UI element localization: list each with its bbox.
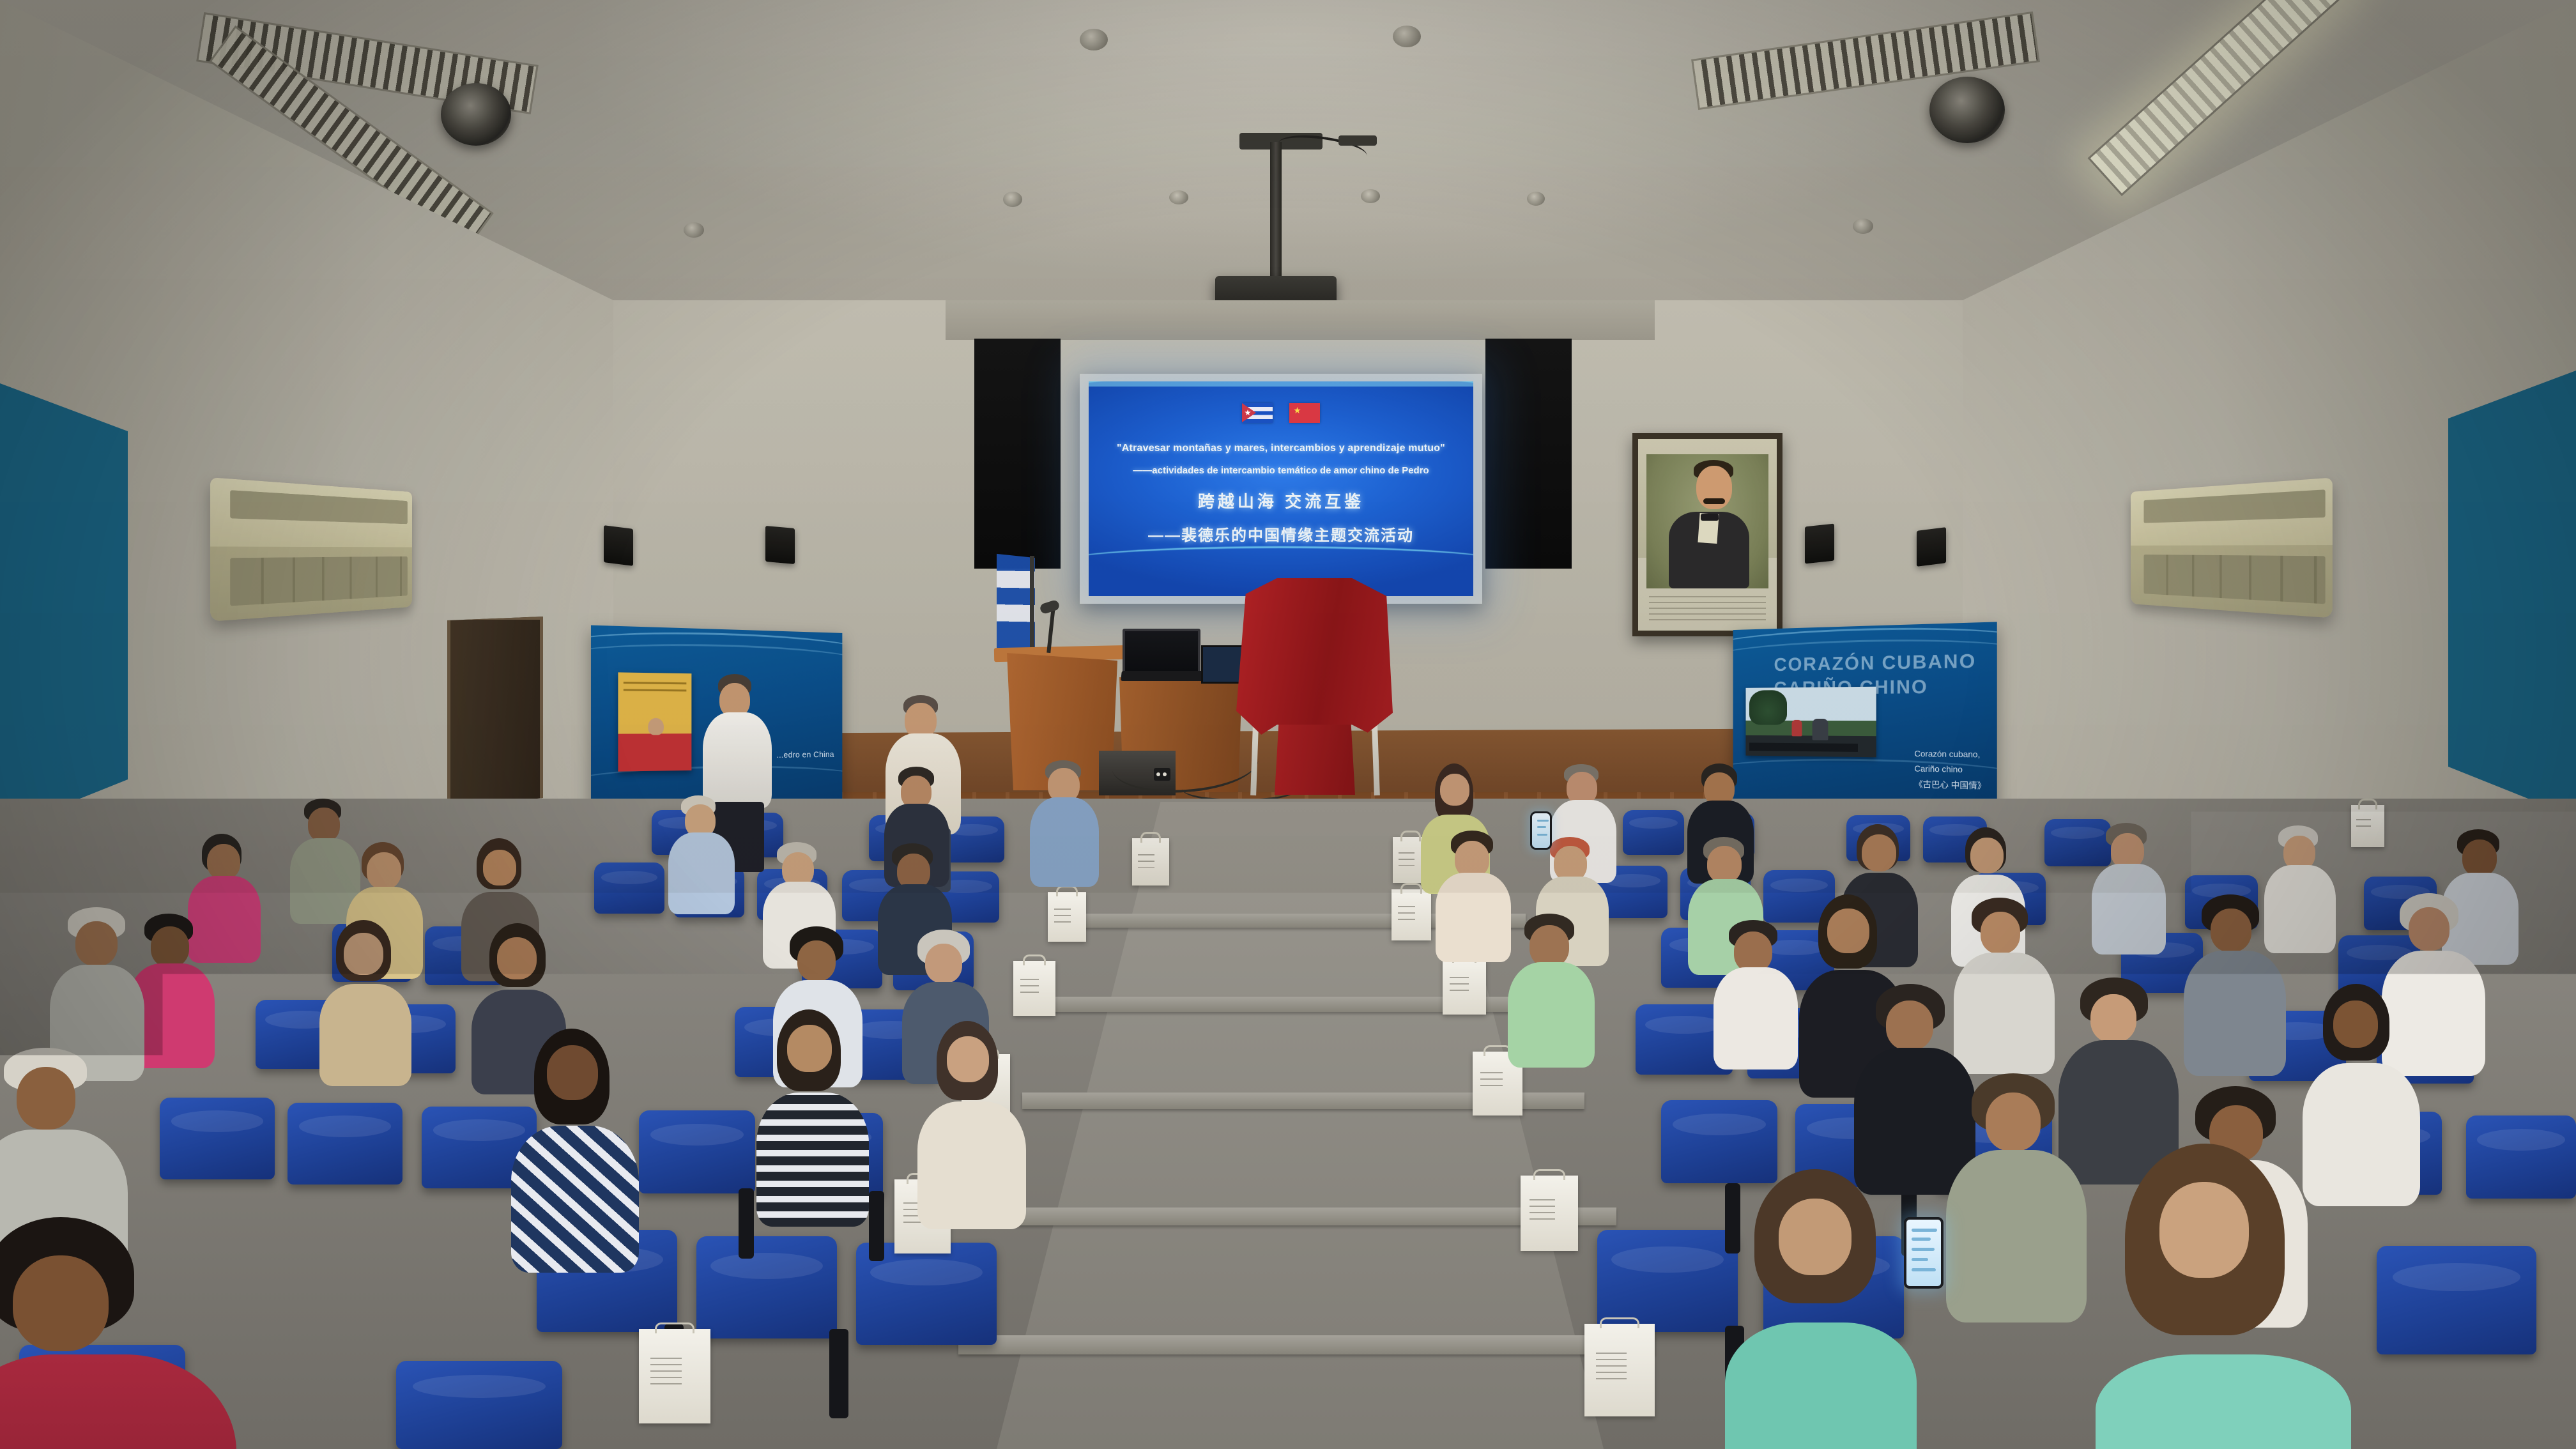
- banner-sub-line-1: Corazón cubano,: [1914, 746, 1986, 762]
- person-head: [1970, 838, 2004, 873]
- cuba-flag-star: [1245, 410, 1251, 416]
- screen-text-block: "Atravesar montañas y mares, intercambio…: [1089, 443, 1473, 545]
- stage-valance: [946, 300, 1655, 340]
- smoke-detector: [1361, 189, 1380, 203]
- person-head: [1827, 908, 1869, 953]
- laptop-keyboard-base: [1121, 671, 1205, 681]
- ac-louvers: [230, 556, 407, 606]
- person-head: [1981, 912, 2020, 954]
- tote-print: [1399, 850, 1414, 865]
- projector-pole: [1270, 142, 1282, 281]
- banner-right-subtitle: Corazón cubano, Cariño chino 《古巴心 中国情》: [1914, 746, 1986, 793]
- auditorium-photo-scene: "Atravesar montañas y mares, intercambio…: [0, 0, 2576, 1449]
- stage-drape-right: [1485, 339, 1572, 569]
- portrait-artwork: [1638, 439, 1777, 631]
- event-gift-tote-bag: [1391, 889, 1431, 940]
- person-head: [151, 926, 189, 967]
- accent-wall-panel-right: [2448, 371, 2576, 818]
- smoke-detector: [1527, 192, 1545, 206]
- screen-flag-pair: [1089, 403, 1473, 423]
- person-torso: [2092, 864, 2166, 954]
- wall-mounted-speaker: [604, 525, 633, 566]
- person-head: [1734, 931, 1772, 972]
- person-head: [344, 933, 383, 975]
- person-head: [1529, 925, 1569, 967]
- person-head: [1862, 834, 1896, 871]
- event-gift-tote-bag: [1521, 1176, 1578, 1251]
- person-torso: [1436, 873, 1511, 962]
- screen-subtitle-chinese: ——裴德乐的中国情缘主题交流活动: [1089, 523, 1473, 545]
- person-head: [925, 944, 962, 983]
- side-door[interactable]: [447, 617, 543, 808]
- book-cover-figure: [648, 718, 664, 735]
- projector-cable-anchor: [1338, 135, 1377, 146]
- blue-auditorium-chair[interactable]: [639, 1110, 755, 1193]
- person-torso: [2096, 1354, 2351, 1449]
- person-torso: [756, 1092, 869, 1227]
- wall-mounted-speaker: [765, 526, 795, 564]
- smoke-detector: [1003, 192, 1022, 207]
- person-torso: [2264, 865, 2336, 953]
- tote-print: [1480, 1069, 1502, 1091]
- phone-message-line: [1912, 1238, 1931, 1241]
- roll-up-banner-right: CORAZÓN CUBANO CARIÑO CHINO Corazón cuba…: [1733, 622, 1997, 812]
- blue-auditorium-chair[interactable]: [160, 1098, 275, 1179]
- tote-print: [1138, 852, 1154, 868]
- screen-title-spanish-quote: "Atravesar montañas y mares, intercambio…: [1089, 443, 1473, 454]
- portrait-caption-text: [1649, 594, 1765, 625]
- person-head: [367, 852, 401, 889]
- smoke-detector: [1393, 26, 1421, 47]
- person-head: [2090, 994, 2136, 1043]
- book-title-lines: [624, 679, 687, 694]
- blue-auditorium-chair[interactable]: [1661, 1100, 1777, 1183]
- person-torso: [1946, 1150, 2087, 1322]
- cuba-flag-icon: [1242, 403, 1273, 423]
- person-head: [2333, 1000, 2378, 1048]
- person-torso: [511, 1126, 639, 1273]
- person-torso: [703, 712, 772, 808]
- person-head: [207, 844, 240, 880]
- phone-message-line: [1537, 834, 1547, 836]
- banner-photo-person-red: [1791, 720, 1802, 737]
- phone-message-line: [1912, 1229, 1937, 1232]
- chair-armrest: [829, 1329, 848, 1418]
- framed-portrait-jose-marti: [1632, 433, 1782, 636]
- event-gift-tote-bag: [2351, 805, 2384, 847]
- person-head: [947, 1036, 989, 1082]
- smoke-detector: [1169, 190, 1188, 204]
- blue-auditorium-chair[interactable]: [396, 1361, 562, 1449]
- person-head: [797, 940, 836, 981]
- person-head: [1779, 1199, 1851, 1275]
- person-torso: [1508, 962, 1595, 1068]
- event-gift-tote-bag: [1443, 958, 1486, 1015]
- wall-mounted-speaker: [1805, 524, 1834, 564]
- tote-print: [1398, 903, 1415, 921]
- person-torso: [319, 984, 411, 1086]
- person-torso: [2303, 1063, 2420, 1206]
- person-torso: [668, 832, 735, 914]
- blue-auditorium-chair[interactable]: [1597, 1230, 1738, 1332]
- event-gift-tote-bag: [1132, 838, 1169, 885]
- chair-armrest: [869, 1191, 884, 1261]
- ac-louvers: [2143, 555, 2325, 604]
- banner-headline-line-1: CORAZÓN CUBANO: [1774, 649, 1984, 678]
- tote-print: [1596, 1350, 1627, 1381]
- person-head: [787, 1025, 832, 1072]
- blue-auditorium-chair[interactable]: [2466, 1115, 2576, 1199]
- stage-drape-left: [974, 339, 1061, 569]
- projection-screen: "Atravesar montañas y mares, intercambio…: [1089, 381, 1473, 596]
- aisle-step: [958, 1335, 1655, 1354]
- china-flag-icon: [1289, 403, 1320, 423]
- blue-auditorium-chair[interactable]: [287, 1103, 402, 1184]
- smartphone-in-hand[interactable]: [1904, 1217, 1943, 1289]
- tote-print: [1450, 974, 1469, 993]
- person-torso: [2382, 951, 2485, 1076]
- person-torso: [2184, 951, 2286, 1076]
- person-torso: [188, 876, 261, 963]
- smartphone-in-hand[interactable]: [1530, 811, 1552, 850]
- event-gift-tote-bag: [639, 1329, 710, 1423]
- person-head: [2211, 908, 2251, 952]
- blue-auditorium-chair[interactable]: [2377, 1246, 2536, 1354]
- screen-title-chinese: 跨越山海 交流互鉴: [1089, 489, 1473, 512]
- blue-auditorium-chair[interactable]: [594, 862, 664, 914]
- banner-photo-bench: [1749, 742, 1858, 752]
- person-head: [2409, 907, 2449, 951]
- smoke-detector: [1853, 218, 1873, 234]
- person-head: [497, 937, 537, 979]
- person-head: [1886, 1000, 1933, 1050]
- person-torso: [917, 1101, 1026, 1229]
- portrait-mustache: [1703, 498, 1725, 504]
- chair-armrest: [1725, 1183, 1740, 1253]
- screen-wave-decoration: [1089, 546, 1473, 578]
- blue-auditorium-chair[interactable]: [696, 1236, 837, 1338]
- blue-auditorium-chair[interactable]: [1623, 810, 1684, 855]
- person-head: [547, 1045, 598, 1100]
- tote-print: [2356, 816, 2371, 831]
- event-gift-tote-bag: [1048, 892, 1086, 942]
- person-torso: [1854, 1048, 1975, 1195]
- screen-wave-decoration: [1089, 381, 1473, 406]
- ceiling-speaker-dome: [1929, 77, 2005, 143]
- ac-top-grille: [230, 490, 407, 524]
- banner-sub-line-3: 《古巴心 中国情》: [1914, 776, 1986, 793]
- wall-air-conditioner-right: [2131, 478, 2333, 618]
- chair-armrest: [739, 1188, 754, 1259]
- wall-mounted-speaker: [1917, 527, 1946, 567]
- portrait-bowtie: [1701, 514, 1719, 521]
- banner-photograph: [1746, 687, 1876, 758]
- banner-left-caption: ...edro en China: [776, 749, 834, 760]
- tote-print: [1054, 906, 1071, 923]
- person-head: [308, 808, 340, 842]
- cuban-flag-on-stand: [997, 554, 1035, 654]
- person-torso: [1954, 953, 2055, 1074]
- phone-message-line: [1537, 826, 1546, 828]
- blue-auditorium-chair[interactable]: [2044, 819, 2111, 866]
- banner-sub-line-2: Cariño chino: [1914, 761, 1986, 778]
- person-torso: [1725, 1322, 1917, 1449]
- ac-top-grille: [2143, 489, 2325, 523]
- event-gift-tote-bag: [1584, 1324, 1655, 1416]
- smoke-detector: [684, 222, 704, 238]
- person-head: [13, 1255, 109, 1351]
- person-head: [1986, 1092, 2041, 1151]
- accent-wall-panel-left: [0, 383, 128, 831]
- person-head: [2462, 839, 2497, 877]
- person-torso: [1713, 967, 1798, 1069]
- phone-message-line: [1912, 1258, 1928, 1261]
- book-cover-artwork: [618, 672, 691, 771]
- banner-photo-tree: [1749, 690, 1787, 725]
- person-head: [1440, 774, 1469, 806]
- tote-print: [1020, 976, 1039, 995]
- phone-message-line: [1912, 1268, 1936, 1271]
- phone-message-line: [1912, 1248, 1935, 1251]
- tote-print: [650, 1355, 682, 1387]
- projection-screen-frame: "Atravesar montañas y mares, intercambio…: [1080, 374, 1482, 604]
- banner-photo-person-seated: [1813, 719, 1828, 740]
- laptop-screen: [1125, 631, 1198, 671]
- phone-message-line: [1537, 820, 1549, 822]
- china-flag-star: [1294, 407, 1301, 414]
- person-torso: [1030, 797, 1099, 887]
- person-head: [2159, 1182, 2249, 1278]
- event-gift-tote-bag: [1013, 961, 1055, 1016]
- presentation-laptop: [1123, 629, 1200, 673]
- person-head: [17, 1067, 75, 1130]
- smoke-detector: [1080, 29, 1108, 50]
- person-head: [1707, 846, 1742, 883]
- person-head: [483, 850, 516, 885]
- wall-air-conditioner-left: [210, 477, 412, 622]
- person-head: [75, 921, 118, 966]
- screen-subtitle-spanish: ——actividades de intercambio temático de…: [1089, 465, 1473, 476]
- ceiling-speaker-dome: [441, 83, 511, 146]
- tote-print: [1529, 1197, 1555, 1222]
